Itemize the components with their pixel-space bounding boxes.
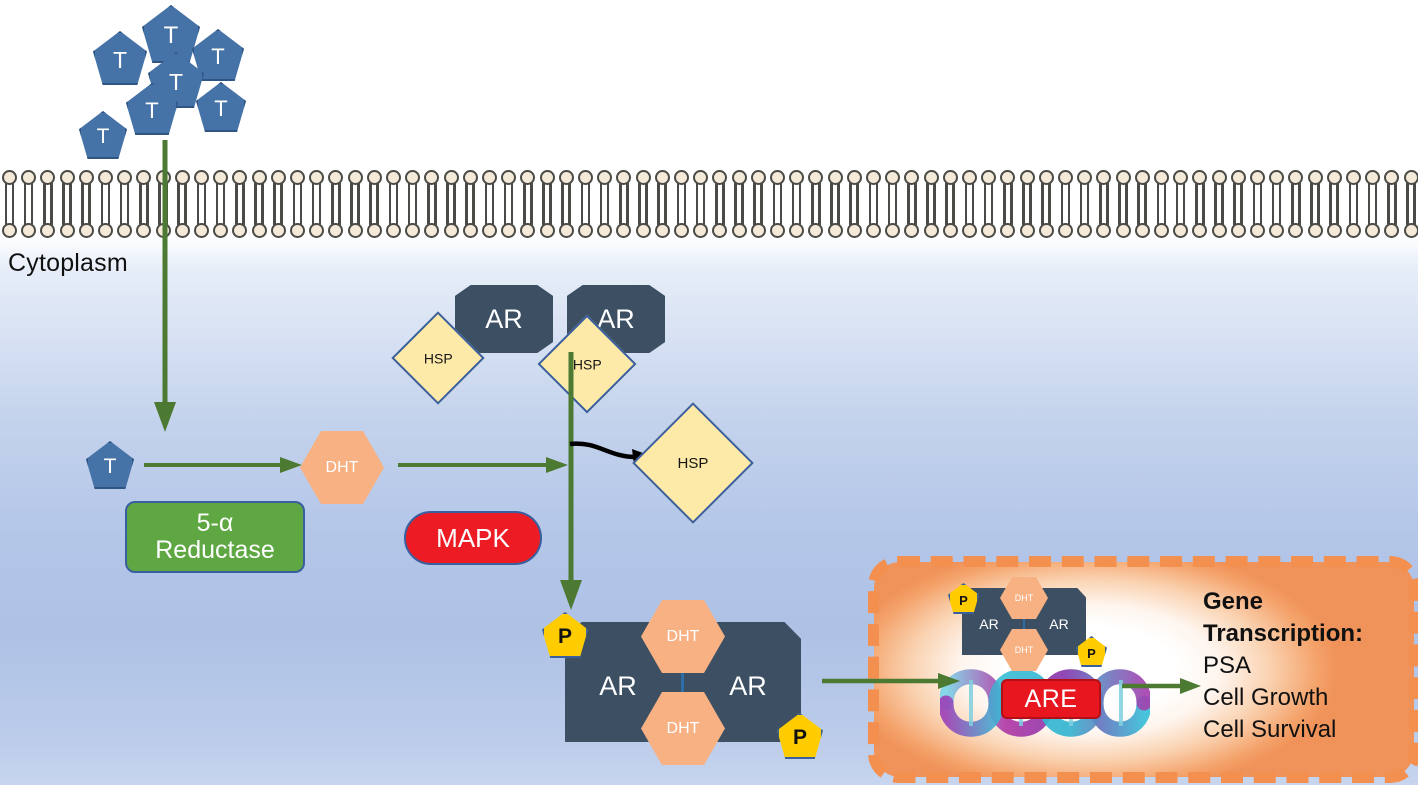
phospholipid — [902, 170, 921, 204]
lipid-tail — [434, 204, 437, 225]
are-to-genes-arrow — [1122, 676, 1202, 696]
lipid-tail — [1195, 204, 1198, 225]
lipid-head — [943, 170, 958, 185]
lipid-head — [693, 170, 708, 185]
phospholipid — [499, 204, 518, 238]
lipid-tail — [146, 204, 149, 225]
lipid-head — [501, 223, 516, 238]
lipid-head — [21, 170, 36, 185]
lipid-head — [770, 170, 785, 185]
lipid-tail — [760, 204, 763, 225]
phospholipid — [1286, 170, 1305, 204]
lipid-head — [1135, 170, 1150, 185]
phospholipid — [557, 170, 576, 204]
phospholipid — [499, 170, 518, 204]
phospholipid — [1286, 204, 1305, 238]
lipid-tail — [1279, 204, 1282, 225]
phospholipid — [672, 170, 691, 204]
lipid-tail — [607, 183, 610, 204]
phospholipid — [787, 204, 806, 238]
phospholipid — [403, 170, 422, 204]
phospholipid — [595, 170, 614, 204]
lipid-head — [693, 223, 708, 238]
phospholipid — [538, 170, 557, 204]
hsp-label: HSP — [424, 350, 453, 366]
lipid-tail — [1202, 183, 1205, 204]
lipid-tail — [876, 183, 879, 204]
lipid-tail — [780, 204, 783, 225]
lipid-head — [1269, 170, 1284, 185]
lipid-tail — [50, 204, 53, 225]
lipid-tail — [1157, 204, 1160, 225]
lipid-tail — [1106, 183, 1109, 204]
ar-label: AR — [485, 304, 523, 335]
lipid-tail — [1310, 204, 1313, 225]
lipid-tail — [1041, 204, 1044, 225]
lipid-head — [271, 170, 286, 185]
lipid-head — [386, 223, 401, 238]
lipid-head — [866, 170, 881, 185]
lipid-tail — [31, 204, 34, 225]
lipid-tail — [1003, 183, 1006, 204]
lipid-tail — [1233, 183, 1236, 204]
phospholipid — [1056, 170, 1075, 204]
lipid-tail — [856, 183, 859, 204]
lipid-tail — [811, 183, 814, 204]
lipid-tail — [1164, 204, 1167, 225]
lipid-tail — [523, 183, 526, 204]
phospholipid — [461, 170, 480, 204]
lipid-head — [1327, 170, 1342, 185]
lipid-tail — [453, 183, 456, 204]
lipid-tail — [1157, 183, 1160, 204]
lipid-tail — [1375, 183, 1378, 204]
lipid-head — [252, 223, 267, 238]
lipid-head — [1096, 170, 1111, 185]
phospholipid — [422, 204, 441, 238]
lipid-tail — [127, 183, 130, 204]
lipid-head — [520, 170, 535, 185]
lipid-tail — [773, 183, 776, 204]
phospholipid — [864, 170, 883, 204]
phospholipid — [1248, 170, 1267, 204]
phospholipid — [384, 170, 403, 204]
lipid-tail — [1087, 204, 1090, 225]
phospholipid — [19, 170, 38, 204]
lipid-head — [1250, 170, 1265, 185]
phospholipid — [998, 170, 1017, 204]
phospholipid — [230, 170, 249, 204]
lipid-tail — [1298, 204, 1301, 225]
lipid-tail — [568, 183, 571, 204]
lipid-tail — [952, 183, 955, 204]
lipid-tail — [1048, 204, 1051, 225]
mapk-box[interactable]: MAPK — [404, 511, 542, 565]
lipid-head — [674, 170, 689, 185]
phospholipid — [1094, 204, 1113, 238]
lipid-tail — [511, 204, 514, 225]
lipid-tail — [811, 204, 814, 225]
lipid-head — [2, 170, 17, 185]
lipid-tail — [741, 204, 744, 225]
lipid-head — [674, 223, 689, 238]
lipid-tail — [415, 204, 418, 225]
lipid-head — [1404, 223, 1418, 238]
lipid-tail — [1329, 183, 1332, 204]
lipid-head — [943, 223, 958, 238]
lipid-tail — [945, 183, 948, 204]
phospholipid — [1363, 170, 1382, 204]
lipid-tail — [1010, 183, 1013, 204]
lipid-tail — [357, 204, 360, 225]
lipid-tail — [1087, 183, 1090, 204]
testosterone-label: T — [104, 455, 117, 479]
lipid-tail — [1291, 183, 1294, 204]
testosterone-label: T — [97, 125, 110, 149]
lipid-head — [559, 223, 574, 238]
phospholipid — [96, 170, 115, 204]
lipid-head — [1192, 170, 1207, 185]
phospholipid — [1344, 204, 1363, 238]
lipid-head — [290, 170, 305, 185]
phospholipid — [960, 204, 979, 238]
ar-label: AR — [979, 616, 998, 632]
lipid-tail — [1336, 183, 1339, 204]
phospholipid — [614, 170, 633, 204]
lipid-tail — [492, 183, 495, 204]
lipid-tail — [734, 183, 737, 204]
lipid-tail — [818, 204, 821, 225]
lipid-head — [578, 223, 593, 238]
lipid-head — [309, 223, 324, 238]
lipid-tail — [1099, 183, 1102, 204]
dht-label: DHT — [326, 459, 359, 477]
phospholipid — [422, 170, 441, 204]
lipid-head — [328, 170, 343, 185]
lipid-tail — [1387, 183, 1390, 204]
testosterone-label: T — [164, 22, 179, 50]
lipid-tail — [638, 183, 641, 204]
lipid-tail — [856, 204, 859, 225]
lipid-head — [789, 223, 804, 238]
dimer-to-nucleus-arrow — [822, 671, 962, 691]
lipid-tail — [1298, 183, 1301, 204]
lipid-tail — [907, 204, 910, 225]
phospholipid — [806, 170, 825, 204]
lipid-head — [1308, 170, 1323, 185]
phospholipid — [1190, 204, 1209, 238]
gene-output-item: PSA — [1203, 650, 1403, 682]
lipid-head — [1365, 223, 1380, 238]
lipid-head — [290, 223, 305, 238]
lipid-tail — [369, 204, 372, 225]
phospholipid — [1210, 170, 1229, 204]
lipid-tail — [657, 183, 660, 204]
lipid-head — [424, 223, 439, 238]
phospholipid — [595, 204, 614, 238]
phospholipid — [1382, 204, 1401, 238]
lipid-head — [1020, 170, 1035, 185]
phospholipid — [614, 204, 633, 238]
lipid-tail — [677, 183, 680, 204]
lipid-tail — [607, 204, 610, 225]
lipid-head — [1231, 223, 1246, 238]
lipid-tail — [261, 183, 264, 204]
lipid-tail — [849, 183, 852, 204]
lipid-tail — [24, 183, 27, 204]
lipid-head — [1384, 170, 1399, 185]
lipid-head — [1288, 223, 1303, 238]
lipid-tail — [581, 204, 584, 225]
lipid-tail — [43, 204, 46, 225]
lipid-head — [232, 223, 247, 238]
phospholipid — [326, 204, 345, 238]
lipid-head — [232, 170, 247, 185]
lipid-head — [1384, 223, 1399, 238]
lipid-tail — [869, 183, 872, 204]
lipid-head — [21, 223, 36, 238]
phospholipid — [1402, 204, 1418, 238]
lipid-tail — [1356, 204, 1359, 225]
lipid-head — [924, 223, 939, 238]
phospholipid — [96, 204, 115, 238]
lipid-tail — [1329, 204, 1332, 225]
phospholipid — [941, 170, 960, 204]
lipid-tail — [1356, 183, 1359, 204]
lipid-head — [194, 170, 209, 185]
lipid-tail — [1336, 204, 1339, 225]
lipid-head — [1058, 223, 1073, 238]
lipid-tail — [1413, 204, 1416, 225]
phospholipid — [1171, 170, 1190, 204]
lipid-tail — [369, 183, 372, 204]
lipid-tail — [139, 183, 142, 204]
dht-label: DHT — [1015, 593, 1034, 603]
lipid-tail — [223, 183, 226, 204]
phospholipid — [1056, 204, 1075, 238]
lipid-tail — [504, 183, 507, 204]
lipid-tail — [965, 183, 968, 204]
hsp-label: HSP — [678, 455, 709, 472]
phospholipid — [307, 170, 326, 204]
phospholipid — [1152, 204, 1171, 238]
lipid-tail — [235, 204, 238, 225]
lipid-tail — [1022, 183, 1025, 204]
lipid-head — [1020, 223, 1035, 238]
phospholipid — [864, 204, 883, 238]
lipid-tail — [5, 204, 8, 225]
lipid-tail — [1375, 204, 1378, 225]
reductase-label-line2: Reductase — [155, 537, 275, 564]
lipid-tail — [376, 204, 379, 225]
lipid-tail — [876, 204, 879, 225]
phospholipid — [115, 170, 134, 204]
lipid-tail — [235, 183, 238, 204]
lipid-tail — [1310, 183, 1313, 204]
lipid-head — [540, 223, 555, 238]
lipid-tail — [984, 183, 987, 204]
lipid-head — [962, 170, 977, 185]
lipid-tail — [972, 183, 975, 204]
lipid-head — [117, 223, 132, 238]
phospholipid — [653, 204, 672, 238]
phospholipid — [922, 204, 941, 238]
phospholipid — [365, 170, 384, 204]
lipid-head — [924, 170, 939, 185]
ar-label: AR — [729, 671, 767, 702]
lipid-tail — [1272, 183, 1275, 204]
lipid-head — [1116, 170, 1131, 185]
lipid-tail — [645, 183, 648, 204]
lipid-tail — [1214, 204, 1217, 225]
lipid-tail — [312, 183, 315, 204]
lipid-tail — [427, 183, 430, 204]
lipid-tail — [465, 183, 468, 204]
five-alpha-reductase-box[interactable]: 5-α Reductase — [125, 501, 305, 573]
lipid-tail — [561, 204, 564, 225]
lipid-head — [904, 170, 919, 185]
lipid-tail — [722, 183, 725, 204]
lipid-tail — [792, 183, 795, 204]
lipid-tail — [933, 183, 936, 204]
lipid-tail — [280, 204, 283, 225]
lipid-head — [904, 223, 919, 238]
lipid-head — [597, 170, 612, 185]
lipid-head — [405, 223, 420, 238]
phospholipid — [1325, 204, 1344, 238]
lipid-tail — [1214, 183, 1217, 204]
phospholipid — [845, 170, 864, 204]
lipid-tail — [357, 183, 360, 204]
lipid-tail — [549, 204, 552, 225]
testosterone-label: T — [169, 69, 183, 96]
lipid-tail — [254, 183, 257, 204]
gene-output-item: Cell Growth — [1203, 682, 1403, 714]
phospholipid — [1344, 170, 1363, 204]
lipid-head — [328, 223, 343, 238]
lipid-head — [98, 170, 113, 185]
lipid-head — [732, 223, 747, 238]
lipid-tail — [657, 204, 660, 225]
lipid-head — [60, 170, 75, 185]
lipid-tail — [1041, 183, 1044, 204]
lipid-tail — [799, 204, 802, 225]
phospholipid — [1229, 204, 1248, 238]
lipid-tail — [127, 204, 130, 225]
lipid-tail — [197, 204, 200, 225]
phospholipid — [518, 204, 537, 238]
lipid-head — [1154, 223, 1169, 238]
lipid-tail — [5, 183, 8, 204]
phospholipid — [826, 170, 845, 204]
phospholipid — [442, 170, 461, 204]
lipid-tail — [511, 183, 514, 204]
lipid-head — [1154, 170, 1169, 185]
phospholipid — [730, 204, 749, 238]
lipid-head — [808, 170, 823, 185]
lipid-tail — [619, 183, 622, 204]
dht-label: DHT — [667, 628, 700, 646]
phospholipid — [211, 170, 230, 204]
phospholipid — [1267, 170, 1286, 204]
lipid-tail — [1029, 183, 1032, 204]
lipid-tail — [638, 204, 641, 225]
lipid-head — [732, 170, 747, 185]
lipid-tail — [242, 204, 245, 225]
lipid-head — [597, 223, 612, 238]
phospholipid — [557, 204, 576, 238]
phospholipid — [998, 204, 1017, 238]
lipid-tail — [1233, 204, 1236, 225]
lipid-tail — [1080, 183, 1083, 204]
lipid-head — [79, 170, 94, 185]
lipid-tail — [600, 183, 603, 204]
lipid-head — [616, 170, 631, 185]
lipid-tail — [415, 183, 418, 204]
lipid-tail — [600, 204, 603, 225]
lipid-tail — [849, 204, 852, 225]
phospholipid — [826, 204, 845, 238]
lipid-tail — [914, 204, 917, 225]
lipid-head — [98, 223, 113, 238]
lipid-head — [828, 170, 843, 185]
lipid-tail — [914, 183, 917, 204]
lipid-tail — [1349, 204, 1352, 225]
phospholipid — [749, 204, 768, 238]
lipid-head — [962, 223, 977, 238]
lipid-head — [808, 223, 823, 238]
phospholipid — [1075, 204, 1094, 238]
lipid-head — [252, 170, 267, 185]
phospholipid — [307, 204, 326, 238]
phospholipid — [58, 170, 77, 204]
lipid-tail — [1137, 204, 1140, 225]
lipid-tail — [741, 183, 744, 204]
lipid-tail — [472, 183, 475, 204]
lipid-tail — [945, 204, 948, 225]
lipid-tail — [1118, 183, 1121, 204]
lipid-tail — [1202, 204, 1205, 225]
lipid-tail — [753, 204, 756, 225]
lipid-tail — [184, 183, 187, 204]
lipid-head — [1269, 223, 1284, 238]
phospholipid — [883, 204, 902, 238]
phospholipid — [730, 170, 749, 204]
lipid-tail — [81, 183, 84, 204]
lipid-tail — [293, 204, 296, 225]
lipid-tail — [338, 204, 341, 225]
lipid-tail — [88, 183, 91, 204]
lipid-tail — [773, 204, 776, 225]
lipid-tail — [888, 204, 891, 225]
phosphate-label: P — [1087, 646, 1096, 661]
phospholipid — [1382, 170, 1401, 204]
lipid-tail — [588, 183, 591, 204]
phospholipid — [634, 204, 653, 238]
lipid-tail — [1413, 183, 1416, 204]
are-label: ARE — [1025, 685, 1078, 714]
phospholipid — [1229, 170, 1248, 204]
lipid-head — [1116, 223, 1131, 238]
phospholipid — [1133, 204, 1152, 238]
lipid-tail — [830, 204, 833, 225]
lipid-head — [1096, 223, 1111, 238]
phospholipid — [192, 170, 211, 204]
phospholipid — [806, 204, 825, 238]
plasma-membrane-bilayer — [0, 170, 1418, 238]
lipid-tail — [1240, 204, 1243, 225]
lipid-tail — [12, 204, 15, 225]
